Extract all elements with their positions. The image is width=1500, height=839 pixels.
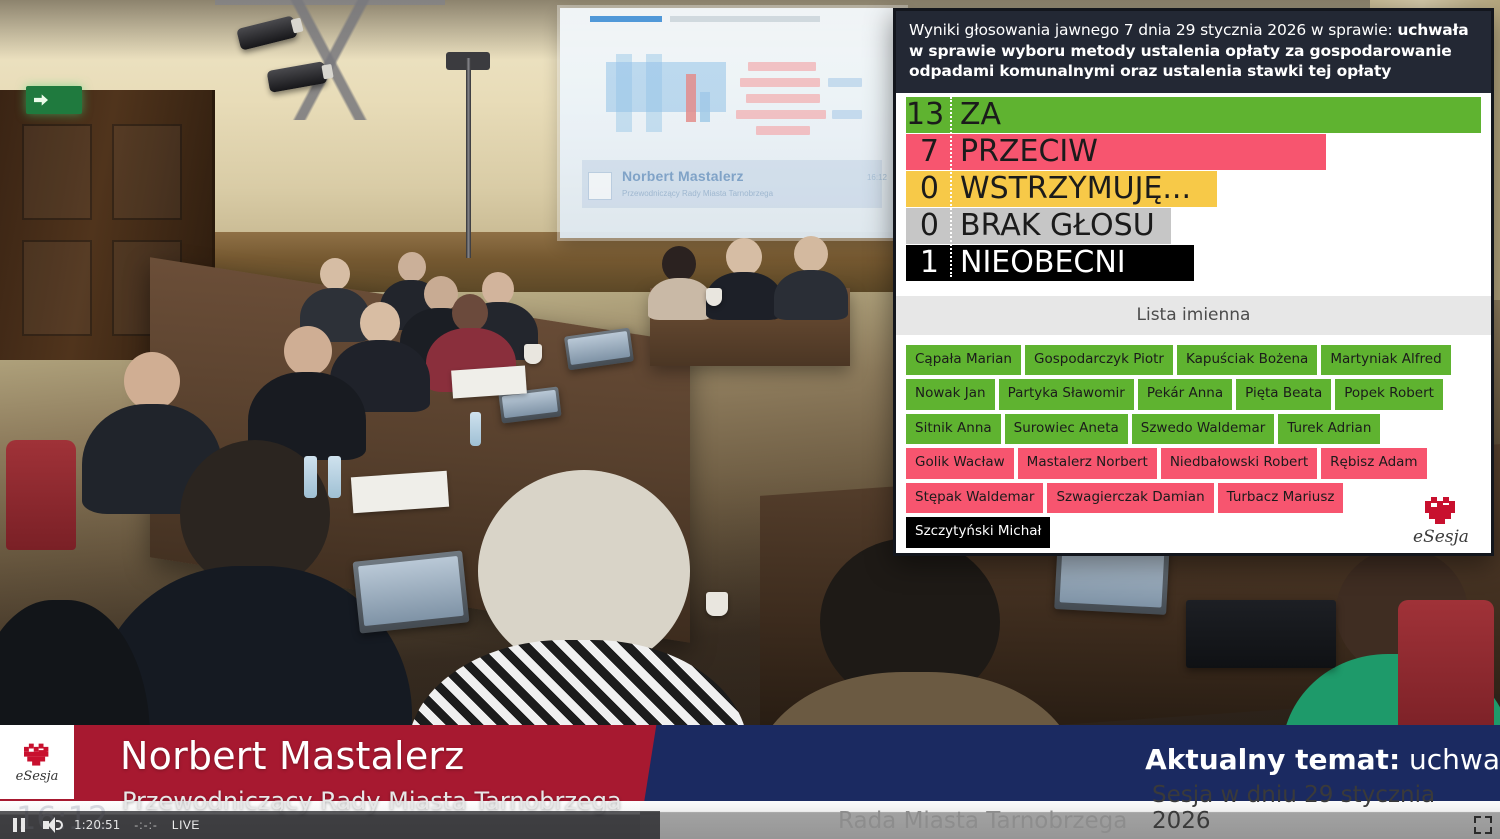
session-date: Sesja w dniu 29 stycznia 2026 [1152,782,1500,834]
vote-result-count: 13 [906,100,950,130]
projection-speaker-name: Norbert Mastalerz [622,168,744,184]
voter-chip: Niedbałowski Robert [1161,448,1317,479]
projection-bar-blue [700,92,710,122]
projection-row-5 [736,110,826,119]
vote-result-count: 0 [906,174,950,204]
vote-result-label: BRAK GŁOSU [950,211,1155,241]
volume-icon[interactable] [42,816,60,834]
bottle-1 [304,456,317,498]
presidium-person-3-body [774,270,848,320]
voter-chip: Stępak Waldemar [906,483,1043,514]
vote-result-row: 13ZA [906,97,1481,133]
councillor-head-5 [452,294,488,332]
voter-chip: Surowiec Aneta [1005,414,1128,445]
vote-result-label: WSTRZYMUJĘ... [950,174,1191,204]
councillor-head-1 [398,252,426,282]
speaker-name: Norbert Mastalerz [120,734,464,778]
esesja-logo-panel: eSesja [1405,490,1477,546]
projection-row-7 [756,126,810,135]
voter-chip: Szwagierczak Damian [1047,483,1213,514]
presidium-person-1-head [662,246,696,282]
voter-chip: Turek Adrian [1278,414,1380,445]
voter-chip: Mastalerz Norbert [1018,448,1157,479]
vote-result-count: 0 [906,211,950,241]
vote-result-label: PRZECIW [950,137,1098,167]
voting-bars: 13ZA7PRZECIW0WSTRZYMUJĘ...0BRAK GŁOSU1NI… [896,93,1491,282]
esesja-heart-icon-banner [20,742,54,768]
projection-row-1 [748,62,816,71]
laptop-1-screen [358,556,464,626]
player-control-bar[interactable]: 1:20:51 -:-:- LIVE [0,811,660,839]
current-topic: Aktualny temat: uchwa [1145,743,1500,776]
voter-chip: Turbacz Mariusz [1218,483,1344,514]
voter-chip: Sitnik Anna [906,414,1001,445]
projection-topbar-accent [590,16,662,22]
esesja-wordmark-banner: eSesja [16,770,59,783]
voting-header-lead: Wyniki głosowania jawnego 7 dnia 29 styc… [909,21,1397,39]
voter-chip: Golik Wacław [906,448,1014,479]
voter-chip: Rębisz Adam [1321,448,1426,479]
voter-chip: Partyka Sławomir [999,379,1134,410]
voter-chip: Cąpała Marian [906,345,1021,376]
cup-2 [524,344,542,364]
elapsed-time: 1:20:51 [74,818,120,832]
exit-sign [26,86,82,114]
projection-time: 16:12 [867,173,887,182]
laptop-1 [353,550,470,633]
vote-result-count: 7 [906,137,950,167]
duration-time: -:-:- [134,818,158,832]
council-name: Rada Miasta Tarnobrzega [838,808,1127,834]
bar-column-divider [950,97,952,277]
projection-screen: Norbert Mastalerz Przewodniczący Rady Mi… [560,8,905,238]
current-topic-value: uchwa [1400,743,1500,776]
projection-row-6 [832,110,862,119]
councillor-head-4 [482,272,514,306]
document-2 [451,365,527,398]
roll-call-list: Cąpała MarianGospodarczyk PiotrKapuściak… [896,335,1491,554]
vote-result-label: ZA [950,100,1001,130]
councillor-head-2 [320,258,350,290]
esesja-logo-banner: eSesja [0,725,74,799]
voter-chip: Pekár Anna [1138,379,1232,410]
roll-call-title: Lista imienna [896,296,1491,335]
keyboard-1 [1186,600,1336,668]
projection-row-3 [828,78,862,87]
presidium-person-1-body [648,278,712,320]
microphone-stand [466,58,471,258]
bottle-3 [470,412,481,446]
esesja-wordmark-panel: eSesja [1413,529,1469,546]
presidium-person-2-head [726,238,762,276]
door-panel-lower-left [22,240,92,336]
voter-chip: Martyniak Alfred [1321,345,1450,376]
voter-chip: Nowak Jan [906,379,995,410]
lower-third-banner: 16:12 eSesja [0,725,1500,839]
live-badge: LIVE [172,818,200,832]
bottle-2 [328,456,341,498]
vote-result-row: 0BRAK GŁOSU [906,208,1481,244]
door-panel-upper-right [112,124,182,220]
laptop-3-screen [567,331,630,365]
councillor-head-6 [360,302,400,344]
projection-row-2 [740,78,820,87]
vote-result-row: 7PRZECIW [906,134,1481,170]
vote-result-label: NIEOBECNI [950,248,1126,278]
cup-3 [706,288,722,306]
door-panel-upper-left [22,124,92,220]
ceiling-truss [215,0,445,120]
cup-1 [706,592,728,616]
voter-chip: Pięta Beata [1236,379,1331,410]
chair-1 [6,440,76,550]
document-1 [351,471,449,514]
voter-chip: Szczytyński Michał [906,517,1050,548]
voting-results-panel: Wyniki głosowania jawnego 7 dnia 29 styc… [893,8,1494,556]
councillor-head-7 [284,326,332,376]
projection-bar-red [686,74,696,122]
pause-icon[interactable] [10,816,28,834]
projection-row-4 [746,94,820,103]
video-player-stage: Norbert Mastalerz Przewodniczący Rady Mi… [0,0,1500,839]
vote-result-count: 1 [906,248,950,278]
projection-logo [588,172,612,200]
voter-chip: Gospodarczyk Piotr [1025,345,1173,376]
vote-result-row: 0WSTRZYMUJĘ... [906,171,1481,207]
current-topic-label: Aktualny temat: [1145,743,1400,776]
projection-topbar-line [670,16,820,22]
chair-2 [1398,600,1494,740]
presidium-person-3-head [794,236,828,272]
esesja-heart-icon [1421,495,1461,527]
voter-chip: Popek Robert [1335,379,1443,410]
voter-chip: Szwedo Waldemar [1132,414,1274,445]
voting-results-header: Wyniki głosowania jawnego 7 dnia 29 styc… [896,11,1491,93]
projection-speaker-role: Przewodniczący Rady Miasta Tarnobrzega [622,189,773,198]
vote-result-row: 1NIEOBECNI [906,245,1481,281]
councillor-head-8 [124,352,180,410]
voter-chip: Kapuściak Bożena [1177,345,1317,376]
fullscreen-icon[interactable] [1474,816,1492,834]
